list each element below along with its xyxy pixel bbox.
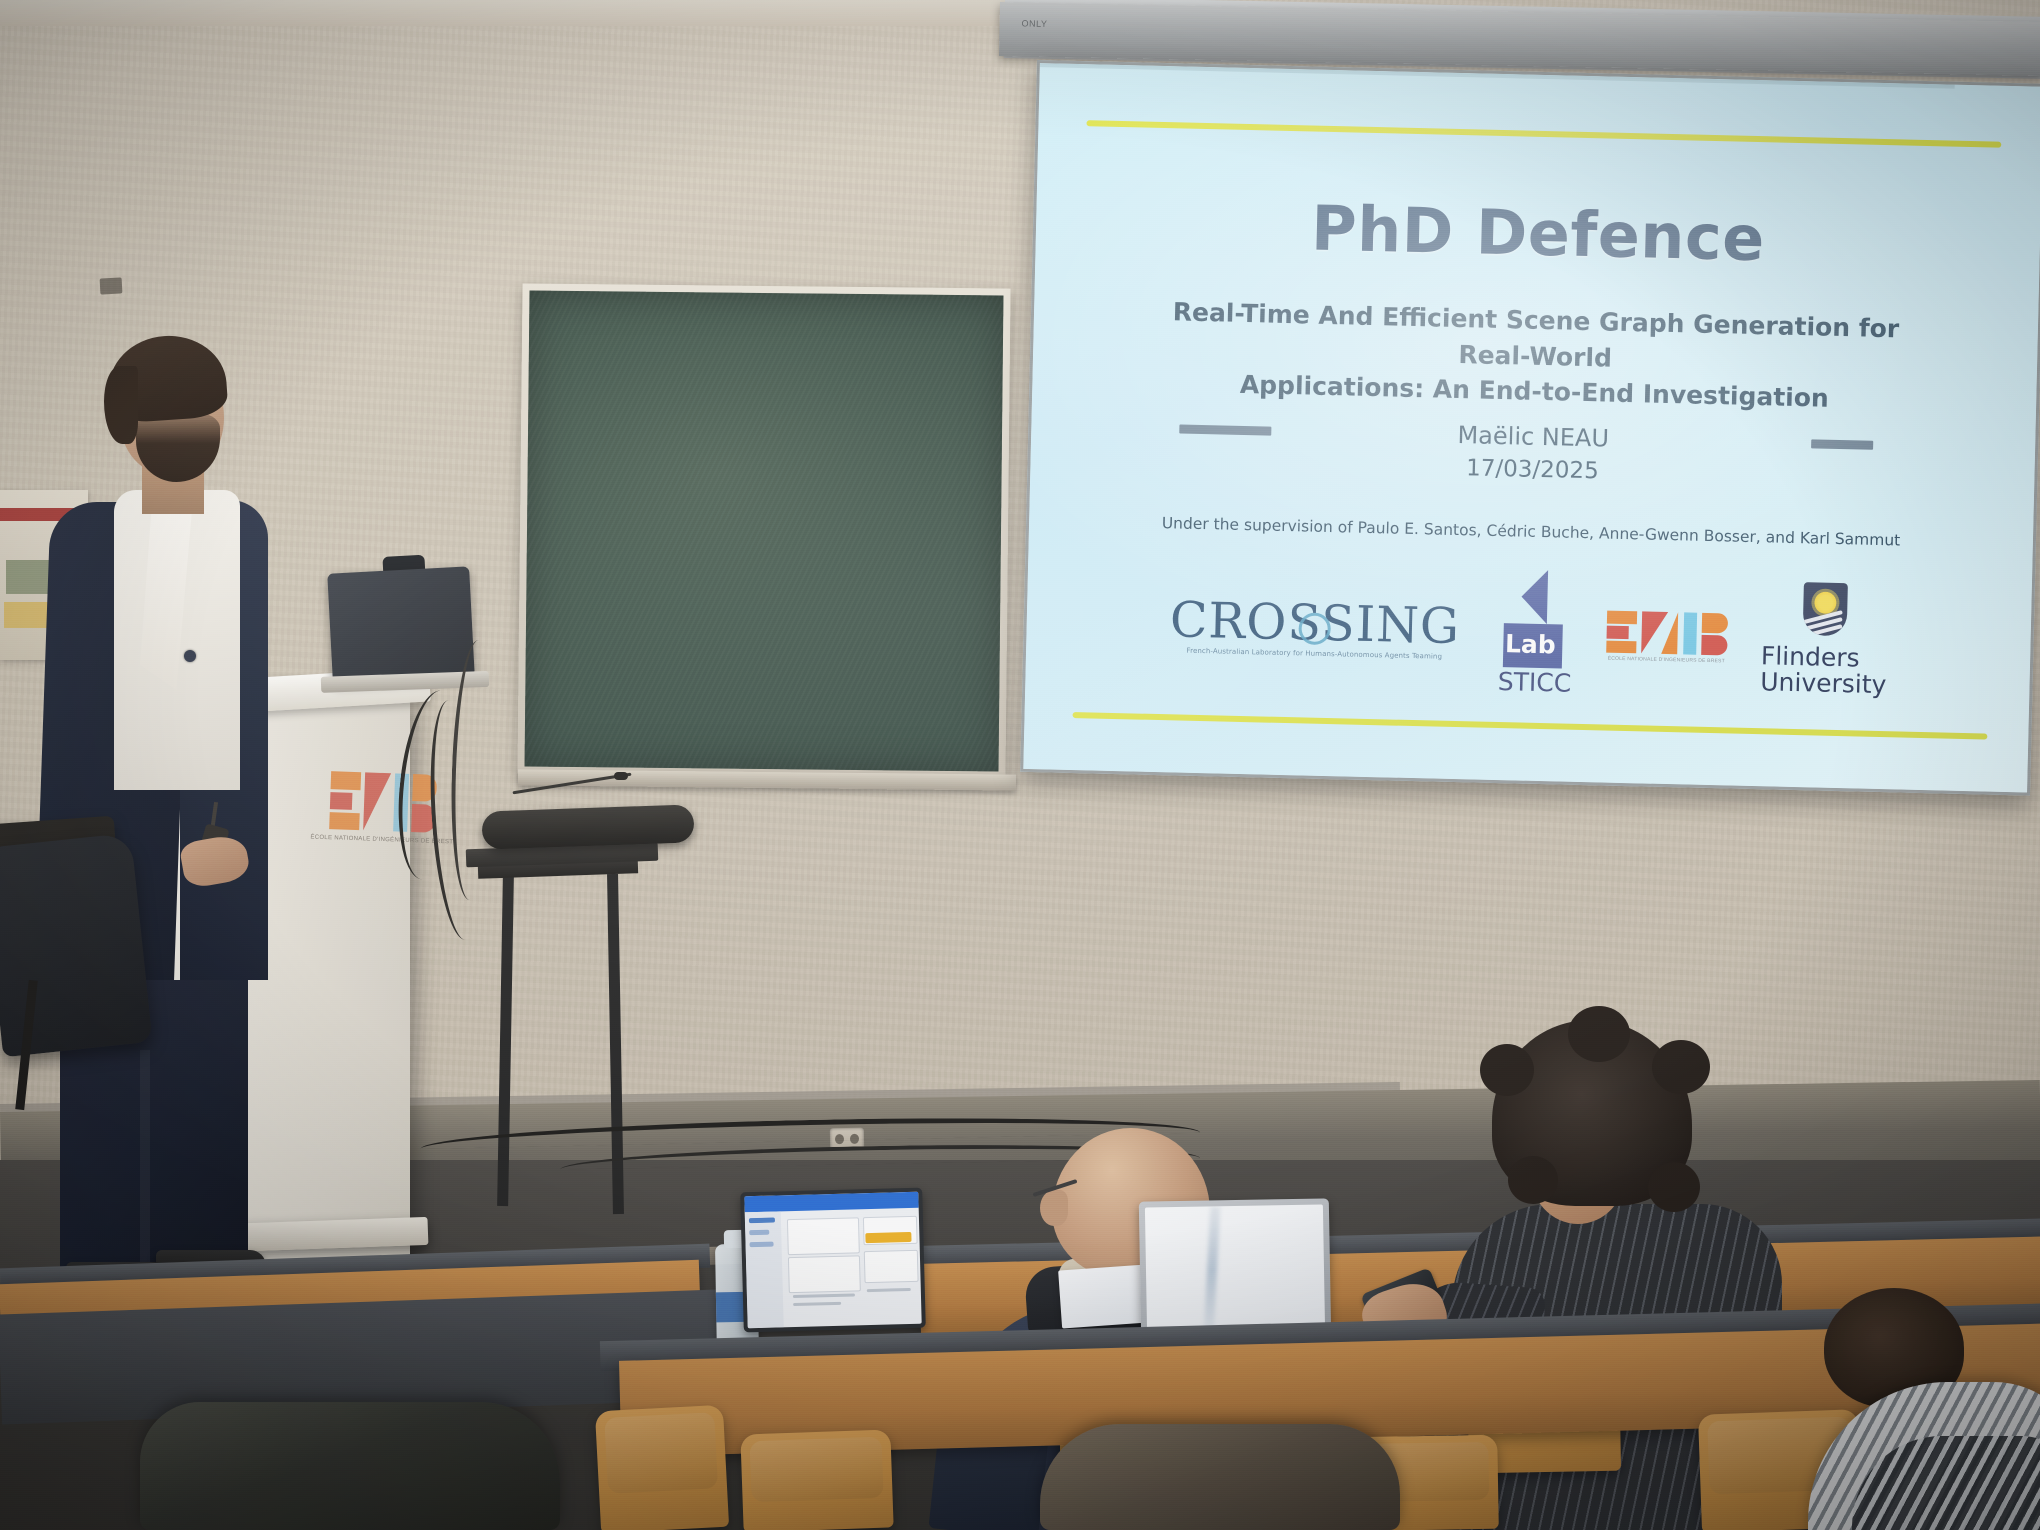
laptop-lid [327,566,475,683]
hair-curl [1508,1156,1558,1204]
text-line [793,1302,841,1306]
lapel-microphone-icon [184,650,196,662]
presenter-laptop [327,566,475,683]
backpack [0,833,153,1058]
board-clip [100,277,123,294]
laptop-screen [744,1192,921,1329]
projection-screen: PhD Defence Real-Time And Efficient Scen… [1020,60,2040,796]
title-slide: PhD Defence Real-Time And Efficient Scen… [1023,63,2040,792]
slide-supervision: Under the supervision of Paulo E. Santos… [1029,511,2033,553]
attendee-laptop-right[interactable] [1139,1198,1331,1341]
presenter [36,350,286,1280]
hair-curl [1480,1044,1534,1096]
enib-tagline: ÉCOLE NATIONALE D'INGÉNIEURS DE BREST [1608,655,1725,664]
lab-sticc-sticc-text: STICC [1497,667,1571,698]
laptop-screen [1145,1204,1325,1335]
conference-speaker-bar [481,804,694,849]
hair-curl [1568,1006,1630,1062]
flinders-wordmark: Flinders University [1760,643,1887,699]
content-card [787,1217,860,1255]
chair[interactable] [595,1405,729,1530]
slide-subtitle: Real-Time And Efficient Scene Graph Gene… [1142,294,1928,419]
content-card [864,1250,919,1283]
enib-letterforms-icon [1606,608,1728,655]
slide-title: PhD Defence [1035,185,2040,282]
microphone-capsule-icon [614,772,628,780]
slide-bottom-rule [1073,712,1988,740]
presenter-beard [136,412,220,482]
sidebar-item [749,1230,769,1236]
lab-sticc-triangle-icon [1520,569,1547,624]
chalkboard-surface [525,291,1004,772]
highlight-button [865,1232,911,1243]
ceiling-strip [0,0,1040,26]
slide-top-rule [1086,120,2001,148]
flinders-university-logo: Flinders University [1760,581,1889,699]
sidebar-item [750,1242,774,1248]
content-card [788,1255,861,1293]
attendee-laptop-left[interactable] [740,1188,926,1333]
slide-logo-row: CROSSING French-Australian Laboratory fo… [1026,573,2032,693]
laptop-lid [740,1188,926,1333]
sidebar-item [749,1218,775,1224]
text-line [793,1293,855,1298]
lecture-hall-photo: ONLY PhD Defence Real-Time And Efficient… [0,0,2040,1530]
browser-top-bar [744,1192,918,1213]
hair-curl [1648,1162,1700,1212]
draped-coat [140,1402,560,1530]
lab-sticc-logo: Lab STICC [1492,568,1573,697]
screen-reflection [1203,1206,1220,1334]
chalkboard [517,283,1010,778]
attendee-foreground-right [1842,1318,2040,1530]
enib-logo: ÉCOLE NATIONALE D'INGÉNIEURS DE BREST [1606,608,1728,664]
presenter-leg-gap [140,1050,150,1280]
presenter-hair-side [104,366,138,444]
crossing-logo: CROSSING French-Australian Laboratory fo… [1169,595,1461,661]
flinders-line2: University [1760,669,1887,698]
text-line [867,1288,911,1292]
hair-curl [1652,1040,1710,1094]
draped-coat [1040,1424,1400,1530]
housing-brand-label: ONLY [1021,18,1047,28]
lab-sticc-lab-text: Lab [1503,623,1564,668]
attendee-ear [1040,1190,1068,1226]
chair[interactable] [740,1429,893,1530]
flinders-shield-icon [1803,582,1848,636]
laptop-lid [1139,1198,1331,1341]
